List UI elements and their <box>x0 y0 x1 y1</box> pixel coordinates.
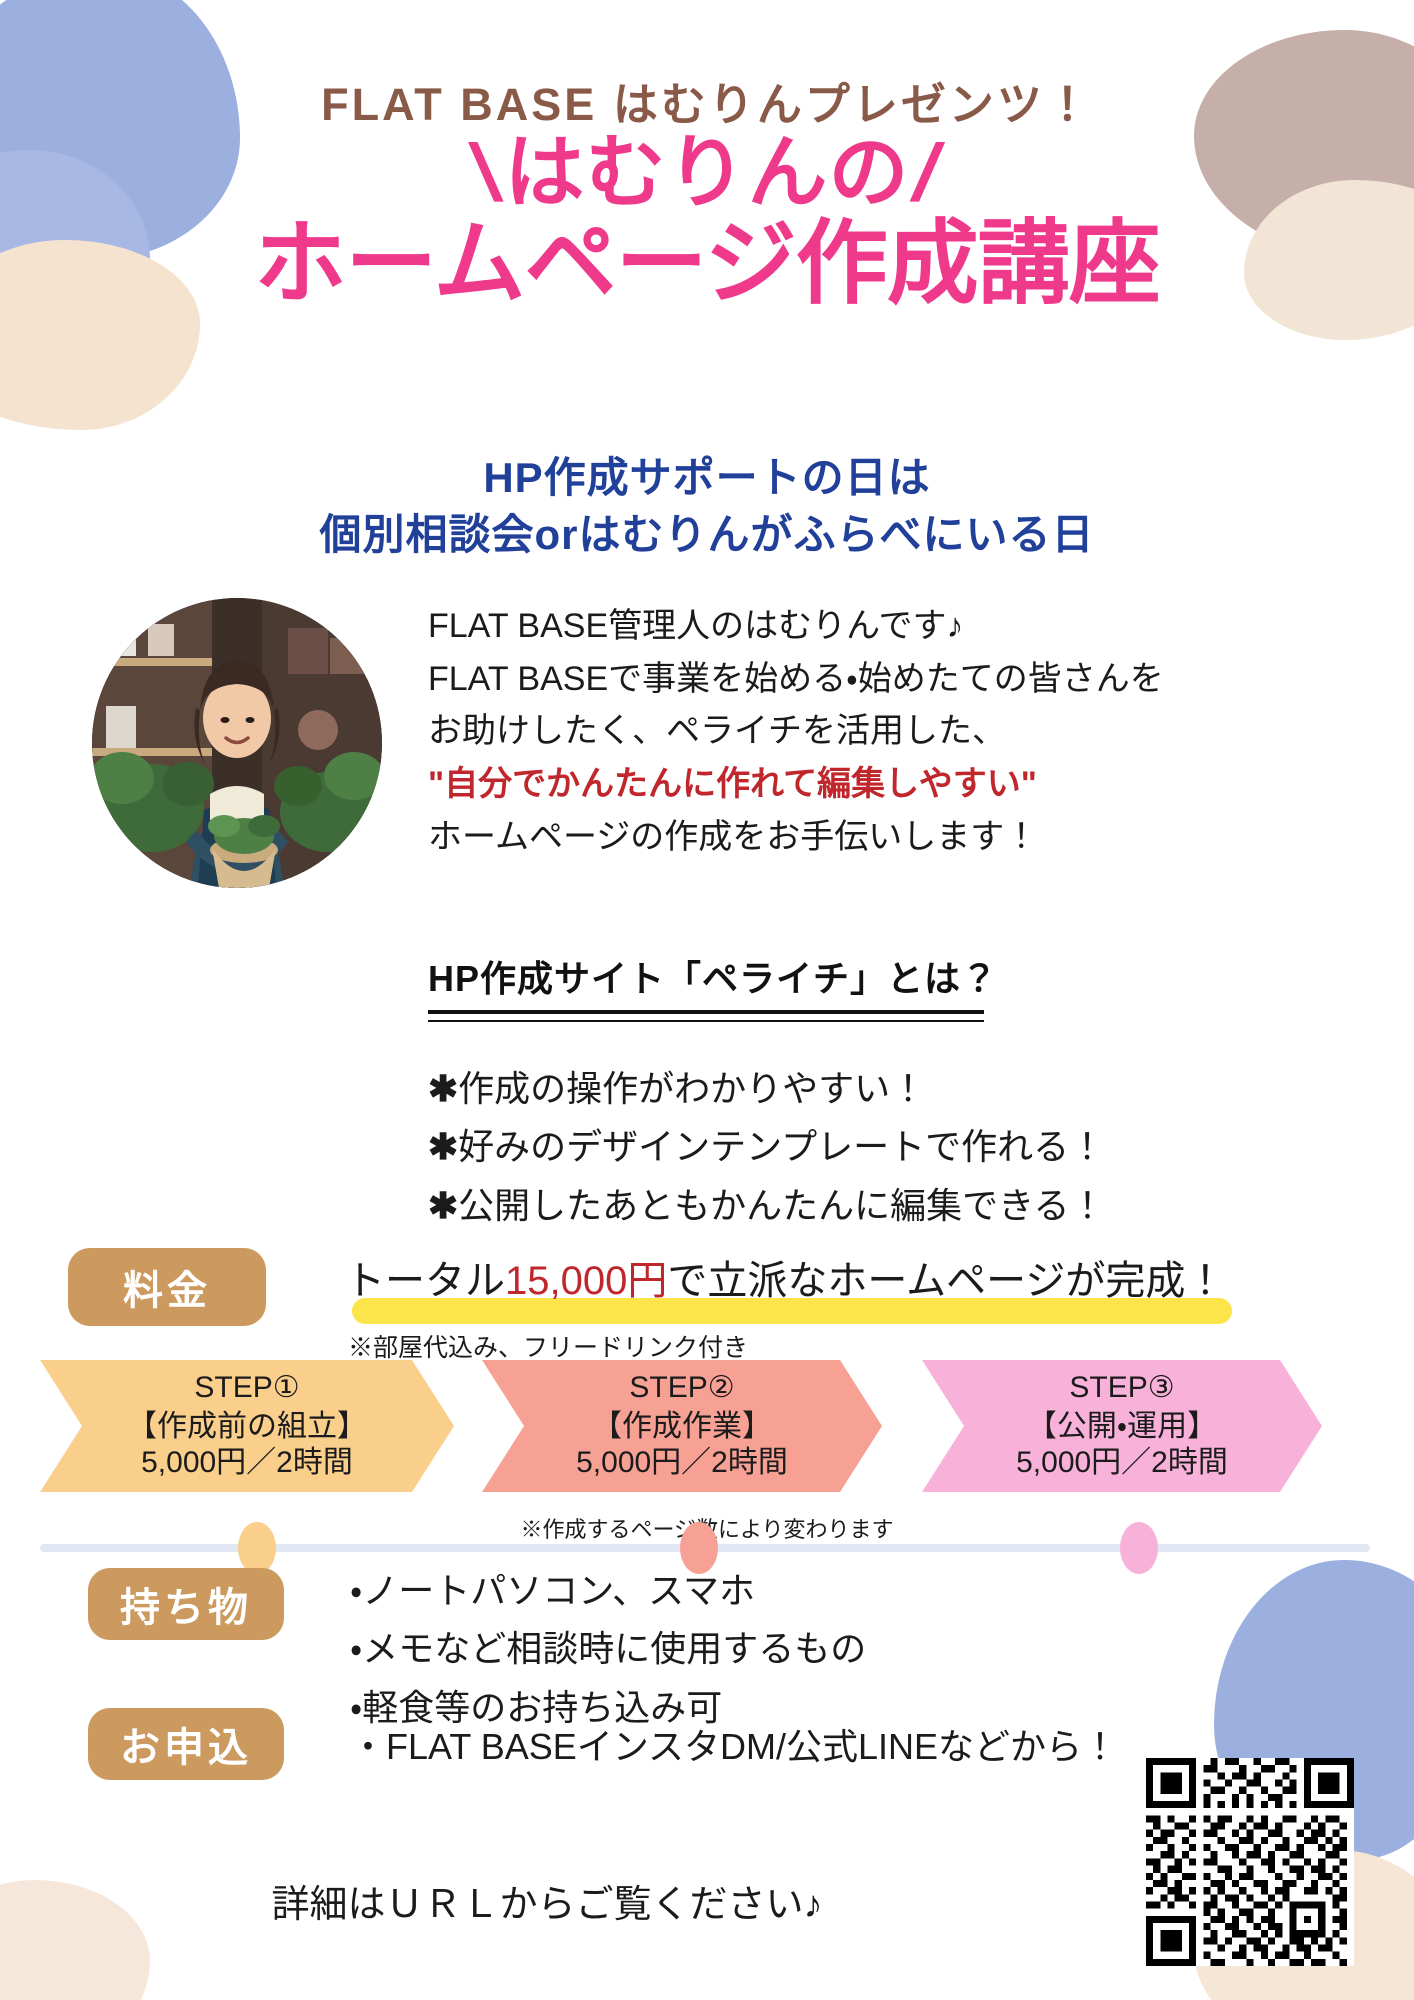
qr-code[interactable] <box>1146 1758 1354 1966</box>
fee-label-pill: 料金 <box>68 1248 266 1326</box>
asterisk-icon: ✱ <box>428 1068 458 1109</box>
subtitle-block: HP作成サポートの日は 個別相談会orはむりんがふらべにいる日 <box>0 450 1414 563</box>
step-1-name: STEP① <box>194 1370 299 1407</box>
list-item: ・ノートパソコン、スマホ <box>350 1562 866 1620</box>
fee-prefix: トータル <box>345 1259 505 1303</box>
step-3-name: STEP③ <box>1069 1370 1174 1407</box>
title-line-1: \はむりんの/ <box>0 132 1414 214</box>
footer-note: 詳細はＵＲＬからご覧ください♪ <box>0 1873 1094 1928</box>
bring-item-list: ・ノートパソコン、スマホ ・メモなど相談時に使用するもの ・軽食等のお持ち込み可 <box>350 1562 866 1737</box>
slash-right-icon: / <box>905 132 949 214</box>
fee-note: ※部屋代込み、フリードリンク付き <box>348 1328 748 1364</box>
step-arrow-2: STEP② 【作成作業】 5,000円／2時間 <box>482 1360 882 1492</box>
step-arrow-group: STEP① 【作成前の組立】 5,000円／2時間 STEP② 【作成作業】 5… <box>0 1360 1414 1510</box>
apply-label-pill: お申込 <box>88 1708 284 1780</box>
bring-label-pill: 持ち物 <box>88 1568 284 1640</box>
slash-left-icon: \ <box>465 132 509 214</box>
feature-bullet-list: ✱作成の操作がわかりやすい！ ✱好みのデザインテンプレートで作れる！ ✱公開した… <box>428 1060 1105 1235</box>
step-2-name: STEP② <box>629 1370 734 1407</box>
step-3-bracket: 【公開・運用】 <box>1027 1409 1217 1446</box>
asterisk-icon: ✱ <box>428 1185 458 1226</box>
step-2-bracket: 【作成作業】 <box>592 1409 772 1446</box>
step-3-price: 5,000円／2時間 <box>1016 1445 1228 1482</box>
title-block: \はむりんの/ ホームページ作成講座 <box>0 132 1414 312</box>
intro-line-2: FLAT BASEで事業を始める・始めたての皆さんを <box>428 653 1308 706</box>
timeline-dot-3 <box>1120 1522 1158 1574</box>
feature-text-2: 好みのデザインテンプレートで作れる！ <box>458 1126 1105 1167</box>
heading-double-underline <box>428 1010 984 1022</box>
step-arrow-3: STEP③ 【公開・運用】 5,000円／2時間 <box>922 1360 1322 1492</box>
presents-line: FLAT BASE はむりんプレゼンツ！ <box>0 68 1414 133</box>
subtitle-line-1: HP作成サポートの日は <box>0 450 1414 507</box>
step-1-bracket: 【作成前の組立】 <box>127 1409 367 1446</box>
feature-text-3: 公開したあともかんたんに編集できる！ <box>458 1185 1105 1226</box>
apply-item-list: ・FLAT BASEインスタDM/公式LINEなどから！ <box>350 1718 1118 1776</box>
host-portrait-avatar <box>92 598 382 888</box>
title-line-1-text: はむりんの <box>505 128 910 217</box>
feature-text-1: 作成の操作がわかりやすい！ <box>458 1068 926 1109</box>
step-arrow-1: STEP① 【作成前の組立】 5,000円／2時間 <box>40 1360 454 1492</box>
list-item: ・メモなど相談時に使用するもの <box>350 1620 866 1678</box>
fee-amount: 15,000円 <box>505 1259 667 1303</box>
intro-line-3: お助けしたく、ペライチを活用した、 <box>428 705 1308 758</box>
list-item: ✱好みのデザインテンプレートで作れる！ <box>428 1118 1105 1176</box>
poster-root: FLAT BASE はむりんプレゼンツ！ \はむりんの/ ホームページ作成講座 … <box>0 0 1414 2000</box>
intro-line-5: ホームページの作成をお手伝いします！ <box>428 811 1308 864</box>
title-line-2: ホームページ作成講座 <box>0 216 1414 313</box>
timeline-dot-1 <box>238 1522 276 1574</box>
list-item: ✱公開したあともかんたんに編集できる！ <box>428 1177 1105 1235</box>
step-2-price: 5,000円／2時間 <box>576 1445 788 1482</box>
fee-suffix: で立派なホームページが完成！ <box>667 1259 1225 1303</box>
intro-highlight-line: "自分でかんたんに作れて編集しやすい" <box>428 758 1308 811</box>
intro-paragraph: FLAT BASE管理人のはむりんです♪ FLAT BASEで事業を始める・始め… <box>428 600 1308 863</box>
intro-line-1: FLAT BASE管理人のはむりんです♪ <box>428 600 1308 653</box>
fee-statement: トータル15,000円で立派なホームページが完成！ <box>345 1248 1225 1306</box>
list-item: ・FLAT BASEインスタDM/公式LINEなどから！ <box>350 1718 1118 1776</box>
step-1-price: 5,000円／2時間 <box>141 1445 353 1482</box>
what-is-peraichi-heading: HP作成サイト「ペライチ」とは？ <box>428 950 998 1012</box>
list-item: ✱作成の操作がわかりやすい！ <box>428 1060 1105 1118</box>
subtitle-line-2: 個別相談会orはむりんがふらべにいる日 <box>0 507 1414 564</box>
asterisk-icon: ✱ <box>428 1126 458 1167</box>
